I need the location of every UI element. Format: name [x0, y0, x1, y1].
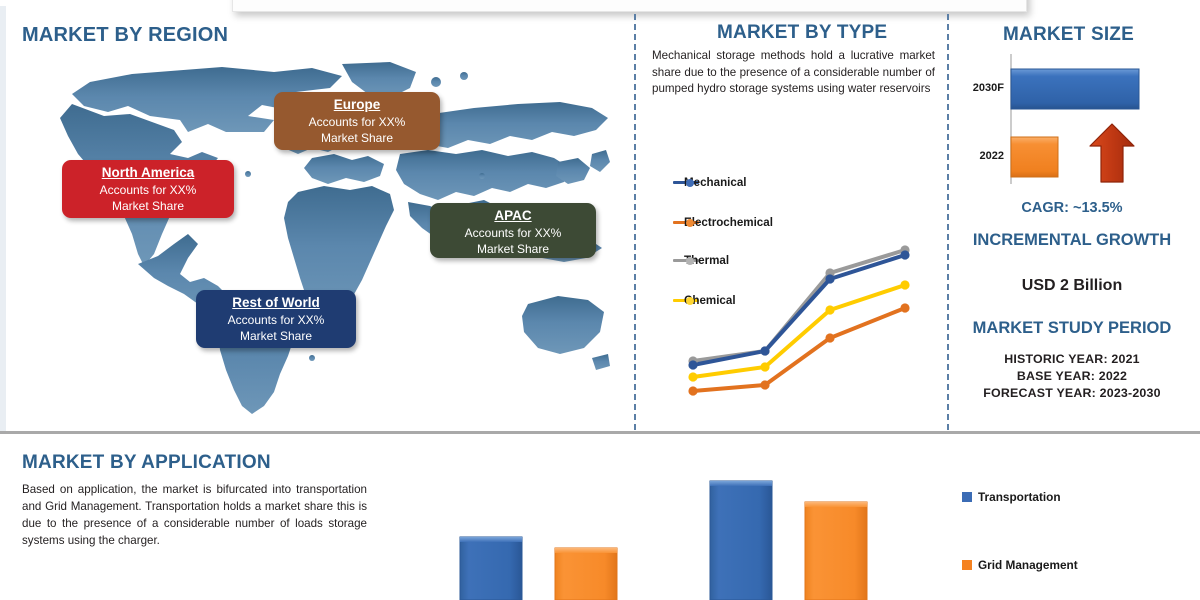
legend-item-grid-management[interactable]: Grid Management: [962, 558, 1078, 572]
top-overlay-card: [232, 0, 1027, 12]
size-axis-label-2030f: 2030F: [958, 82, 1004, 94]
legend-swatch-icon: [962, 492, 972, 502]
region-share-line2: Market Share: [206, 328, 346, 344]
region-callout-rest-of-world[interactable]: Rest of World Accounts for XX% Market Sh…: [196, 290, 356, 348]
region-share-line1: Accounts for XX%: [284, 114, 430, 130]
legend-item-mechanical[interactable]: Mechanical: [673, 176, 747, 189]
legend-marker-icon: [686, 219, 694, 227]
incremental-growth-title: INCREMENTAL GROWTH: [947, 231, 1197, 250]
size-bar-2030f: [1011, 69, 1139, 109]
region-callout-north-america[interactable]: North America Accounts for XX% Market Sh…: [62, 160, 234, 218]
growth-arrow-icon: [1090, 124, 1134, 182]
region-share-line1: Accounts for XX%: [206, 312, 346, 328]
study-period-forecast-year: FORECAST YEAR: 2023-2030: [947, 386, 1197, 400]
region-name: Rest of World: [206, 294, 346, 311]
market-size-bar-chart: [955, 52, 1195, 187]
market-size-title: MARKET SIZE: [1003, 24, 1134, 46]
region-name: North America: [72, 164, 224, 181]
legend-marker-icon: [686, 297, 694, 305]
market-by-type-line-chart: [645, 165, 940, 415]
region-name: APAC: [440, 207, 586, 224]
incremental-growth-value: USD 2 Billion: [947, 277, 1197, 295]
legend-item-chemical[interactable]: Chemical: [673, 294, 736, 307]
region-share-line2: Market Share: [440, 241, 586, 257]
cagr-label: CAGR: ~13.5%: [947, 200, 1197, 216]
market-by-application-bar-chart: [420, 440, 920, 600]
app-bar-transportation-1: [460, 537, 522, 600]
series-electrochemical-markers: [688, 303, 909, 395]
legend-marker-icon: [686, 179, 694, 187]
legend-label: Electrochemical: [684, 216, 773, 229]
left-edge-strip: [0, 6, 6, 432]
app-bar-transportation-2: [710, 481, 772, 600]
region-share-line1: Accounts for XX%: [72, 182, 224, 198]
study-period-base-year: BASE YEAR: 2022: [947, 369, 1197, 383]
market-by-type-paragraph: Mechanical storage methods hold a lucrat…: [652, 48, 935, 98]
market-by-application-paragraph: Based on application, the market is bifu…: [22, 481, 367, 549]
region-share-line1: Accounts for XX%: [440, 225, 586, 241]
app-bar-grid-management-1: [555, 548, 617, 600]
region-callout-apac[interactable]: APAC Accounts for XX% Market Share: [430, 203, 596, 258]
size-bar-2022: [1011, 137, 1058, 177]
divider-horizontal: [0, 431, 1200, 434]
app-bar-grid-management-2: [805, 502, 867, 600]
divider-vertical-size: [947, 14, 949, 430]
study-period-historic-year: HISTORIC YEAR: 2021: [947, 352, 1197, 366]
region-callout-europe[interactable]: Europe Accounts for XX% Market Share: [274, 92, 440, 150]
legend-label: Grid Management: [978, 558, 1078, 572]
legend-marker-icon: [686, 257, 694, 265]
size-axis-label-2022: 2022: [958, 150, 1004, 162]
legend-swatch-icon: [962, 560, 972, 570]
legend-item-electrochemical[interactable]: Electrochemical: [673, 216, 773, 229]
region-name: Europe: [284, 96, 430, 113]
market-by-region-title: MARKET BY REGION: [22, 24, 228, 47]
region-share-line2: Market Share: [284, 130, 430, 146]
region-share-line2: Market Share: [72, 198, 224, 214]
market-study-period-title: MARKET STUDY PERIOD: [947, 319, 1197, 338]
divider-vertical-type: [634, 14, 636, 430]
market-by-application-title: MARKET BY APPLICATION: [22, 452, 271, 474]
legend-item-transportation[interactable]: Transportation: [962, 490, 1061, 504]
infographic-page: MARKET BY REGION: [0, 0, 1200, 600]
series-electrochemical-line: [693, 308, 905, 391]
market-by-type-title: MARKET BY TYPE: [717, 22, 887, 44]
legend-label: Transportation: [978, 490, 1061, 504]
legend-item-thermal[interactable]: Thermal: [673, 254, 729, 267]
